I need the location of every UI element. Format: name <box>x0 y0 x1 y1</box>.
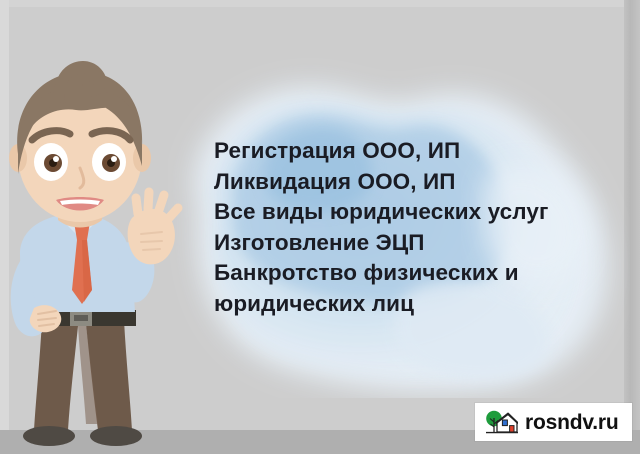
watermark-logo[interactable]: rosndv.ru <box>475 403 632 441</box>
headline-text: Регистрация ООО, ИП Ликвидация ООО, ИП В… <box>214 136 614 319</box>
house-with-tree-icon <box>484 409 518 436</box>
cartoon-businessman-waving <box>0 58 204 454</box>
background-right-strip <box>624 0 640 454</box>
background-top-strip <box>0 0 640 7</box>
promo-banner: Регистрация ООО, ИП Ликвидация ООО, ИП В… <box>0 0 640 454</box>
watermark-text: rosndv.ru <box>525 412 619 433</box>
